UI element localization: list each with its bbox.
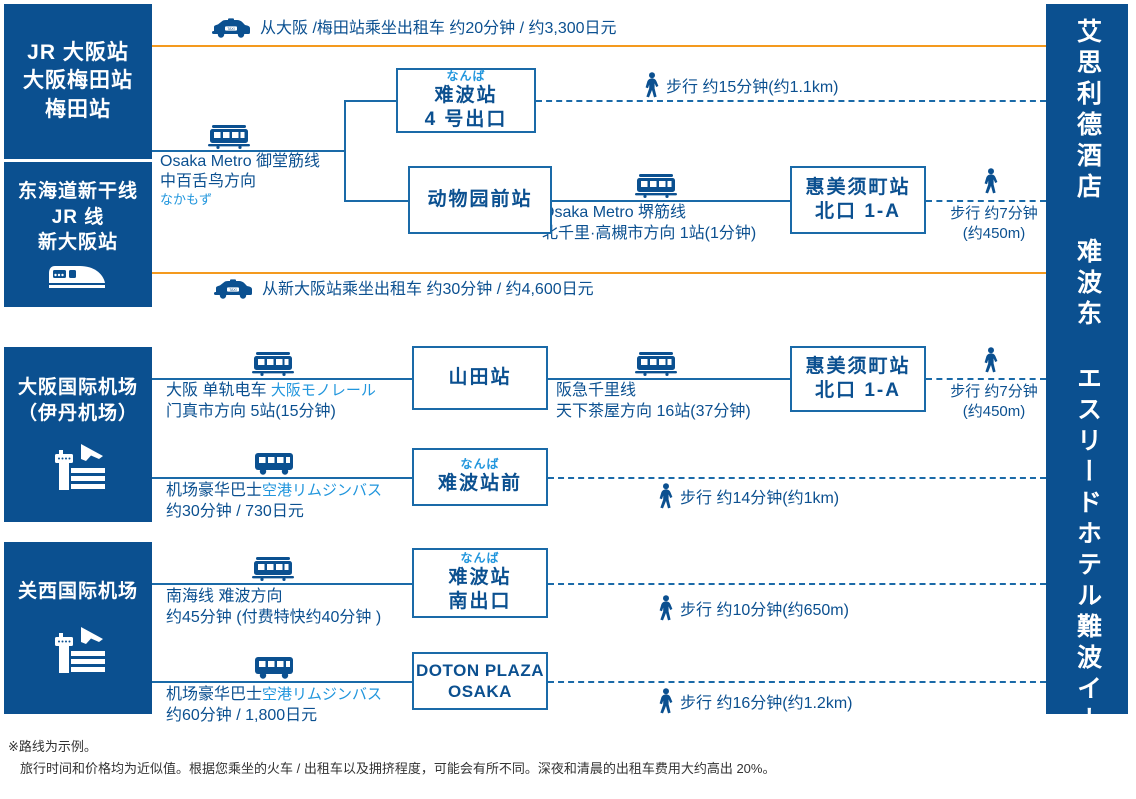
airport-icon [45, 440, 111, 494]
svg-text:TAXI: TAXI [227, 27, 234, 31]
limousine-kix-line1a: 机场豪华巴士 [166, 686, 262, 703]
origin-shin-osaka-station: 东海道新干线 JR 线 新大阪站 [4, 162, 152, 307]
limousine-kix-line1b: 空港リムジンバス [262, 686, 382, 703]
nankai-line2: 约45分钟 (付费特快约40分钟 ) [166, 608, 381, 629]
station-name-line1: DOTON PLAZA [416, 660, 544, 681]
station-name-line1: 难波站 [434, 84, 497, 108]
monorail-line1b: 大阪モノレール [271, 382, 376, 399]
connector-kix-to-namba-south [152, 583, 412, 585]
walk-line1: 步行 约7分钟 [938, 204, 1050, 224]
hotel-name-text: 艾思利德酒店 难波东 エスリードホテル難波イースト [1075, 18, 1100, 799]
walk-namba-south-text: 步行 约10分钟(约650m) [680, 600, 849, 622]
origin-line: 大阪梅田站 [23, 67, 133, 95]
walk-icon [980, 168, 1000, 194]
station-name-line1: 难波站前 [438, 472, 522, 496]
taxi-icon: TAXI [210, 18, 252, 38]
origin-osaka-itami-airport: 大阪国际机场 （伊丹机场） [4, 347, 152, 522]
origin-line: 大阪国际机场 [18, 375, 138, 401]
connector-yamada-to-ebisucho [548, 378, 790, 380]
origin-line: JR 线 [52, 205, 105, 231]
station-box-ebisucho-1: 惠美须町站 北口 1-A [790, 166, 926, 234]
svg-text:TAXI: TAXI [229, 288, 236, 292]
station-ruby: なんば [460, 458, 499, 471]
origin-jr-osaka-station: JR 大阪站 大阪梅田站 梅田站 [4, 4, 152, 159]
hankyu-segment-label: 阪急千里线 天下茶屋方向 16站(37分钟) [556, 381, 751, 423]
station-box-yamada: 山田站 [412, 346, 548, 410]
station-name-line1: 惠美须町站 [805, 355, 910, 379]
station-name-line1: 动物园前站 [427, 188, 532, 212]
midosuji-line2: 中百舌鸟方向 [160, 172, 320, 192]
limousine-itami-line1b: 空港リムジンバス [262, 482, 382, 499]
nankai-segment-label: 南海线 难波方向 约45分钟 (付费特快约40分钟 ) [166, 587, 381, 629]
shinkansen-icon [47, 264, 109, 290]
station-box-doton-plaza: DOTON PLAZA OSAKA [412, 652, 548, 710]
walk-nambamae-text: 步行 约14分钟(约1km) [680, 488, 839, 510]
connector-split-to-dobutsuen [344, 200, 408, 202]
walk-icon [641, 72, 661, 98]
origin-line: 梅田站 [45, 96, 111, 124]
connector-kix-to-doton [152, 681, 412, 683]
walk-dash-ebisucho-2 [926, 378, 1046, 380]
origin-line: 关西国际机场 [18, 579, 138, 605]
walk-dash-nambamae [548, 477, 1046, 479]
station-name-line2: 北口 1-A [815, 200, 901, 224]
station-name-line2: 南出口 [448, 590, 511, 614]
connector-itami-to-yamada [152, 378, 412, 380]
station-name-line2: OSAKA [448, 681, 512, 702]
footer-line-1: ※路线为示例。 [8, 736, 775, 758]
station-ruby: なんば [460, 552, 499, 565]
hotel-name-banner: 艾思利德酒店 难波东 エスリードホテル難波イースト [1046, 4, 1128, 714]
connector-itami-to-nambamae [152, 477, 412, 479]
orange-divider-top [152, 45, 1046, 47]
taxi-icon: TAXI [212, 279, 254, 299]
walk-doton-text: 步行 约16分钟(约1.2km) [680, 693, 852, 715]
hankyu-line2: 天下茶屋方向 16站(37分钟) [556, 402, 751, 423]
limousine-kix-line2: 约60分钟 / 1,800日元 [166, 706, 382, 727]
train-icon [250, 555, 296, 581]
access-diagram: 艾思利德酒店 难波东 エスリードホテル難波イースト JR 大阪站 大阪梅田站 梅… [0, 0, 1136, 781]
sakaisuji-line1: Osaka Metro 堺筋线 [542, 203, 756, 224]
limousine-itami-line1a: 机场豪华巴士 [166, 482, 262, 499]
midosuji-ruby: なかもず [160, 192, 320, 208]
station-name-line1: 山田站 [448, 366, 511, 390]
orange-divider-bottom [152, 272, 1046, 274]
hankyu-line1: 阪急千里线 [556, 381, 751, 402]
train-icon [633, 172, 679, 198]
midosuji-segment-label: Osaka Metro 御堂筋线 中百舌鸟方向 なかもず [160, 152, 320, 208]
walk-line1: 步行 约7分钟 [938, 382, 1050, 402]
walk-icon [655, 688, 675, 714]
limousine-itami-line2: 约30分钟 / 730日元 [166, 502, 382, 523]
walk-dash-doton [548, 681, 1046, 683]
station-box-namba-south: なんば 难波站 南出口 [412, 548, 548, 618]
walk-icon [655, 595, 675, 621]
station-box-namba-exit4: なんば 难波站 4 号出口 [396, 68, 536, 133]
nankai-line1: 南海线 难波方向 [166, 587, 381, 608]
limousine-kix-label: 机场豪华巴士空港リムジンバス 约60分钟 / 1,800日元 [166, 685, 382, 727]
connector-dobutsuen-to-ebisucho [552, 200, 790, 202]
station-name-line2: 北口 1-A [815, 379, 901, 403]
origin-line: 新大阪站 [38, 230, 118, 256]
midosuji-line1: Osaka Metro 御堂筋线 [160, 152, 320, 172]
bus-icon [252, 450, 296, 476]
origin-line: 东海道新干线 [18, 179, 138, 205]
connector-split-vertical [344, 100, 346, 200]
walk-dash-ebisucho-1 [926, 200, 1046, 202]
walk-line2: (约450m) [938, 224, 1050, 244]
connector-origin-to-split [152, 150, 344, 152]
origin-line: （伊丹机场） [18, 401, 138, 427]
walk-line2: (约450m) [938, 402, 1050, 422]
connector-split-to-namba4 [344, 100, 396, 102]
station-name-line2: 4 号出口 [425, 108, 508, 132]
walk-dash-namba4 [536, 100, 1046, 102]
monorail-line2: 门真市方向 5站(15分钟) [166, 402, 376, 423]
walk-ebisucho-1-text: 步行 约7分钟 (约450m) [938, 204, 1050, 243]
station-name-line1: 难波站 [448, 566, 511, 590]
station-box-ebisucho-2: 惠美须町站 北口 1-A [790, 346, 926, 412]
monorail-segment-label: 大阪 单轨电车 大阪モノレール 门真市方向 5站(15分钟) [166, 381, 376, 423]
footer-line-2: 旅行时间和价格均为近似值。根据您乘坐的火车 / 出租车以及拥挤程度，可能会有所不… [8, 758, 775, 780]
walk-dash-namba-south [548, 583, 1046, 585]
station-name-line1: 惠美须町站 [805, 176, 910, 200]
bus-icon [252, 654, 296, 680]
limousine-itami-label: 机场豪华巴士空港リムジンバス 约30分钟 / 730日元 [166, 481, 382, 523]
walk-ebisucho-2-text: 步行 约7分钟 (约450m) [938, 382, 1050, 421]
airport-icon [45, 623, 111, 677]
walk-icon [655, 483, 675, 509]
taxi-route-bottom-text: 从新大阪站乘坐出租车 约30分钟 / 约4,600日元 [262, 279, 594, 301]
train-icon [206, 123, 252, 149]
origin-line: JR 大阪站 [27, 39, 129, 67]
walk-namba4-text: 步行 约15分钟(约1.1km) [666, 77, 838, 99]
station-box-dobutsuen-mae: 动物园前站 [408, 166, 552, 234]
origin-kansai-airport: 关西国际机场 [4, 542, 152, 714]
station-box-namba-mae: なんば 难波站前 [412, 448, 548, 506]
train-icon [250, 350, 296, 376]
footer-notes: ※路线为示例。 旅行时间和价格均为近似值。根据您乘坐的火车 / 出租车以及拥挤程… [8, 736, 775, 780]
monorail-line1a: 大阪 单轨电车 [166, 382, 266, 399]
sakaisuji-segment-label: Osaka Metro 堺筋线 北千里·高槻市方向 1站(1分钟) [542, 203, 756, 245]
walk-icon [980, 347, 1000, 373]
taxi-route-top-text: 从大阪 /梅田站乘坐出租车 约20分钟 / 约3,300日元 [260, 18, 617, 40]
station-ruby: なんば [446, 70, 485, 83]
train-icon [633, 350, 679, 376]
sakaisuji-line2: 北千里·高槻市方向 1站(1分钟) [542, 224, 756, 245]
